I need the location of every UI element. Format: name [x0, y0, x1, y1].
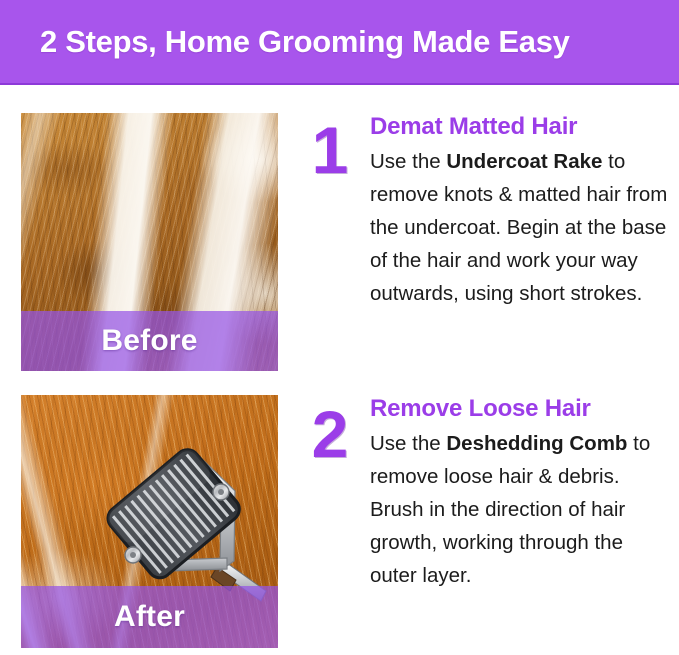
- after-label: After: [21, 586, 278, 648]
- step-2-body: Use the Deshedding Comb to remove loose …: [370, 427, 670, 593]
- after-photo: After: [21, 395, 278, 648]
- before-photo: Before: [21, 113, 278, 371]
- step-2-text-block: Remove Loose Hair Use the Deshedding Com…: [370, 395, 670, 593]
- step-2-heading: Remove Loose Hair: [370, 395, 670, 423]
- step-number-1: 1: [299, 117, 361, 183]
- before-label: Before: [21, 311, 278, 371]
- page-title: 2 Steps, Home Grooming Made Easy: [40, 0, 570, 83]
- step-1-text-block: Demat Matted Hair Use the Undercoat Rake…: [370, 113, 670, 311]
- header-banner: 2 Steps, Home Grooming Made Easy: [0, 0, 679, 85]
- step-1-heading: Demat Matted Hair: [370, 113, 670, 141]
- step-number-2: 2: [299, 401, 361, 467]
- step-1-body: Use the Undercoat Rake to remove knots &…: [370, 145, 670, 311]
